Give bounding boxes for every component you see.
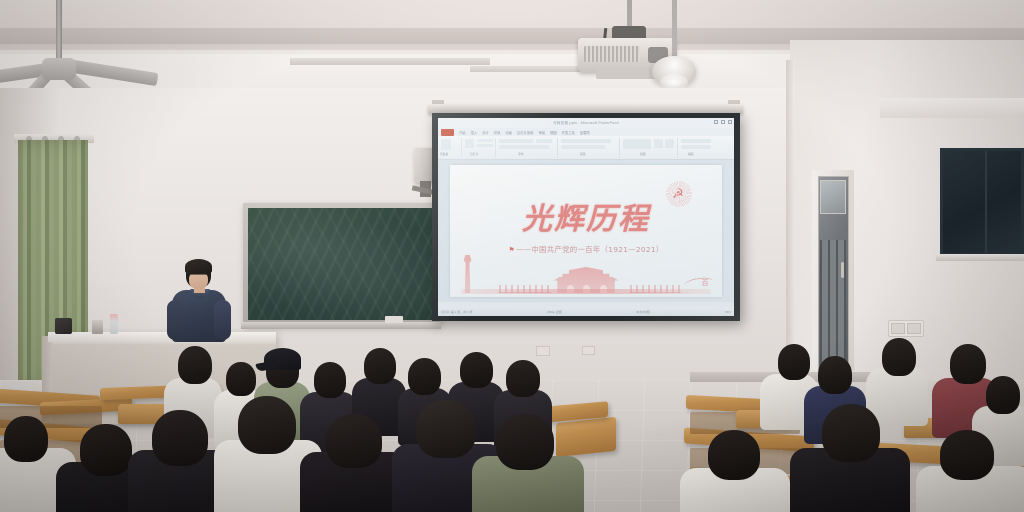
find-icon[interactable]	[681, 139, 711, 143]
door-grille	[820, 240, 846, 366]
door-handle[interactable]	[841, 262, 844, 278]
side-window[interactable]	[940, 148, 1024, 256]
tab-review[interactable]: 审阅	[538, 130, 545, 135]
student-head	[152, 410, 208, 466]
lecturer-arm-right	[214, 300, 231, 340]
dark-bag[interactable]	[55, 318, 72, 334]
ribbon-group-paragraph[interactable]: 段落	[558, 138, 620, 158]
tab-home[interactable]: 开始	[459, 130, 466, 135]
powerpoint-window[interactable]: 光辉历程.pptx - Microsoft PowerPoint 开始 插入 设…	[438, 118, 734, 316]
ribbon[interactable]: 剪贴板 幻灯片 字体 段落	[438, 136, 734, 160]
layout-icon[interactable]	[477, 139, 493, 142]
tab-design[interactable]: 设计	[482, 130, 489, 135]
monument-to-peoples-heroes	[461, 255, 475, 293]
student-head	[178, 346, 212, 384]
student-head	[4, 416, 48, 462]
status-theme: Office 主题	[547, 310, 562, 314]
student-head	[882, 338, 916, 376]
fan-motor-hub	[42, 58, 76, 80]
tiananmen-illustration: 百	[450, 252, 722, 297]
status-language: 中文(中国)	[636, 310, 650, 314]
right-wall-beam	[880, 98, 1024, 118]
ribbon-group-editing[interactable]: 编辑	[678, 138, 724, 158]
font-size-box[interactable]	[536, 139, 552, 143]
ribbon-group-label: 字体	[518, 152, 524, 156]
powerpoint-status-bar: 幻灯片 第 1 张，共 1 张 Office 主题 中文(中国) 66%	[438, 307, 734, 316]
slide-1[interactable]: ☭ 光辉历程 ⚑——中国共产党的一百年（1921—2021）	[450, 165, 722, 297]
wall-corner	[786, 60, 795, 390]
paper-cup[interactable]	[92, 320, 103, 334]
tab-transitions[interactable]: 切换	[494, 130, 501, 135]
student-head	[80, 424, 132, 476]
font-style-row[interactable]	[499, 145, 549, 149]
tab-view[interactable]: 视图	[550, 130, 557, 135]
student-head	[822, 404, 880, 462]
slide-canvas-area[interactable]: ☭ 光辉历程 ⚑——中国共产党的一百年（1921—2021）	[438, 160, 734, 302]
wall-light-switches[interactable]	[888, 320, 924, 337]
light-downrod	[672, 0, 677, 60]
select-icon[interactable]	[681, 145, 711, 149]
tab-file[interactable]	[441, 129, 454, 136]
student-head	[460, 352, 493, 388]
font-name-box[interactable]	[499, 139, 533, 143]
fan-downrod	[56, 0, 62, 62]
student-head	[950, 344, 986, 384]
window-glass	[943, 151, 1021, 253]
projector-vent	[584, 46, 640, 62]
lecturer-hands	[184, 326, 214, 340]
shape-fill-icon[interactable]	[654, 139, 663, 148]
ribbon-group-label: 幻灯片	[470, 152, 478, 156]
paste-icon[interactable]	[441, 139, 451, 150]
tab-developer[interactable]: 开发工具	[562, 130, 575, 135]
projector-base	[596, 70, 658, 79]
student-head	[940, 430, 994, 480]
light-switch[interactable]	[891, 323, 905, 334]
student-head	[408, 358, 441, 395]
ribbon-group-label: 剪贴板	[440, 152, 448, 156]
podium-top-surface	[48, 332, 276, 342]
ribbon-group-clipboard[interactable]: 剪贴板	[438, 138, 462, 158]
window-title: 光辉历程.pptx - Microsoft PowerPoint	[553, 121, 619, 126]
chalkboard-surface	[248, 208, 434, 320]
slide-title: 光辉历程	[450, 194, 722, 238]
green-chalkboard	[243, 203, 439, 325]
status-slide-count: 幻灯片 第 1 张，共 1 张	[441, 310, 473, 314]
light-switch[interactable]	[907, 323, 921, 334]
door-window-pane	[820, 180, 846, 214]
window-mullion	[985, 151, 987, 253]
illustration-baseline	[461, 289, 712, 294]
projection-screen: 光辉历程.pptx - Microsoft PowerPoint 开始 插入 设…	[432, 113, 740, 321]
blackboard-eraser[interactable]	[385, 316, 403, 323]
window-controls[interactable]	[714, 120, 732, 124]
ribbon-group-drawing[interactable]: 绘图	[620, 138, 678, 158]
student-head	[778, 344, 810, 380]
student-head	[416, 400, 476, 458]
ceiling-pipe	[290, 58, 490, 65]
ribbon-character: 百	[702, 278, 709, 288]
reset-icon[interactable]	[477, 144, 493, 147]
ribbon-group-slides[interactable]: 幻灯片	[462, 138, 496, 158]
student-head	[818, 356, 852, 394]
student-head	[986, 376, 1020, 414]
ribbon-tab-strip[interactable]: 开始 插入 设计 切换 动画 幻灯片放映 审阅 视图 开发工具 加载项	[438, 128, 734, 136]
glasses-icon	[190, 274, 207, 278]
lecturer-hair	[185, 259, 212, 274]
window-sill	[936, 254, 1024, 261]
ribbon-group-label: 绘图	[640, 152, 646, 156]
wall-power-socket[interactable]	[582, 346, 595, 355]
student-head	[326, 414, 382, 468]
student-head	[496, 414, 554, 470]
student-head	[708, 430, 760, 480]
chalk-tray	[241, 322, 441, 329]
ribbon-group-label: 编辑	[688, 152, 694, 156]
close-icon[interactable]	[728, 120, 732, 124]
status-zoom-level[interactable]: 66%	[725, 310, 731, 314]
ribbon-group-label: 段落	[580, 152, 586, 156]
list-row[interactable]	[561, 145, 605, 149]
minimize-icon[interactable]	[714, 120, 718, 124]
water-bottle[interactable]	[110, 314, 118, 334]
wall-power-socket[interactable]	[536, 346, 550, 356]
align-row[interactable]	[561, 139, 611, 143]
shapes-gallery-icon[interactable]	[623, 139, 651, 149]
classroom-scene: 光辉历程.pptx - Microsoft PowerPoint 开始 插入 设…	[0, 0, 1024, 512]
tab-slideshow[interactable]: 幻灯片放映	[517, 130, 533, 135]
new-slide-icon[interactable]	[465, 139, 474, 148]
maximize-icon[interactable]	[721, 120, 725, 124]
student-head	[314, 362, 346, 398]
student-head	[364, 348, 396, 384]
ribbon-group-font[interactable]: 字体	[496, 138, 558, 158]
student-head	[506, 360, 540, 397]
tab-insert[interactable]: 插入	[471, 130, 478, 135]
tab-addins[interactable]: 加载项	[580, 130, 590, 135]
student-desk	[556, 417, 616, 457]
shape-outline-icon[interactable]	[665, 139, 674, 148]
powerpoint-title-bar: 光辉历程.pptx - Microsoft PowerPoint	[438, 118, 734, 128]
lecturer-arm-left	[167, 300, 184, 340]
student-head	[226, 362, 256, 396]
student-head	[238, 396, 296, 454]
tab-animations[interactable]: 动画	[505, 130, 512, 135]
